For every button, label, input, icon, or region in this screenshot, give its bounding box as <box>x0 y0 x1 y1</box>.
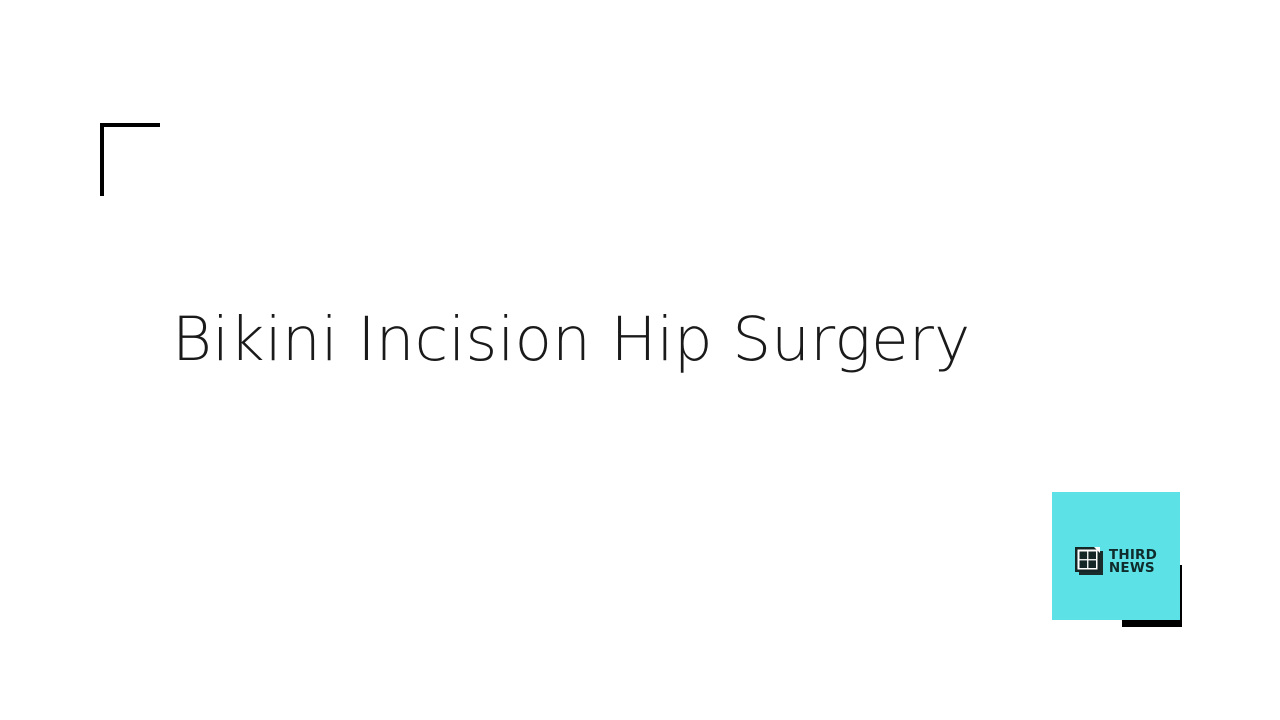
logo-badge: THIRD NEWS <box>1052 492 1180 620</box>
logo-lockup: THIRD NEWS <box>1075 547 1157 577</box>
slide-canvas: Bikini Incision Hip Surgery <box>0 0 1280 720</box>
brand-wordmark: THIRD NEWS <box>1109 549 1157 576</box>
brand-line-2: NEWS <box>1109 562 1157 576</box>
newspaper-icon <box>1075 547 1105 577</box>
page-title: Bikini Incision Hip Surgery <box>172 306 1072 373</box>
corner-bracket-top-left-icon <box>100 123 160 196</box>
